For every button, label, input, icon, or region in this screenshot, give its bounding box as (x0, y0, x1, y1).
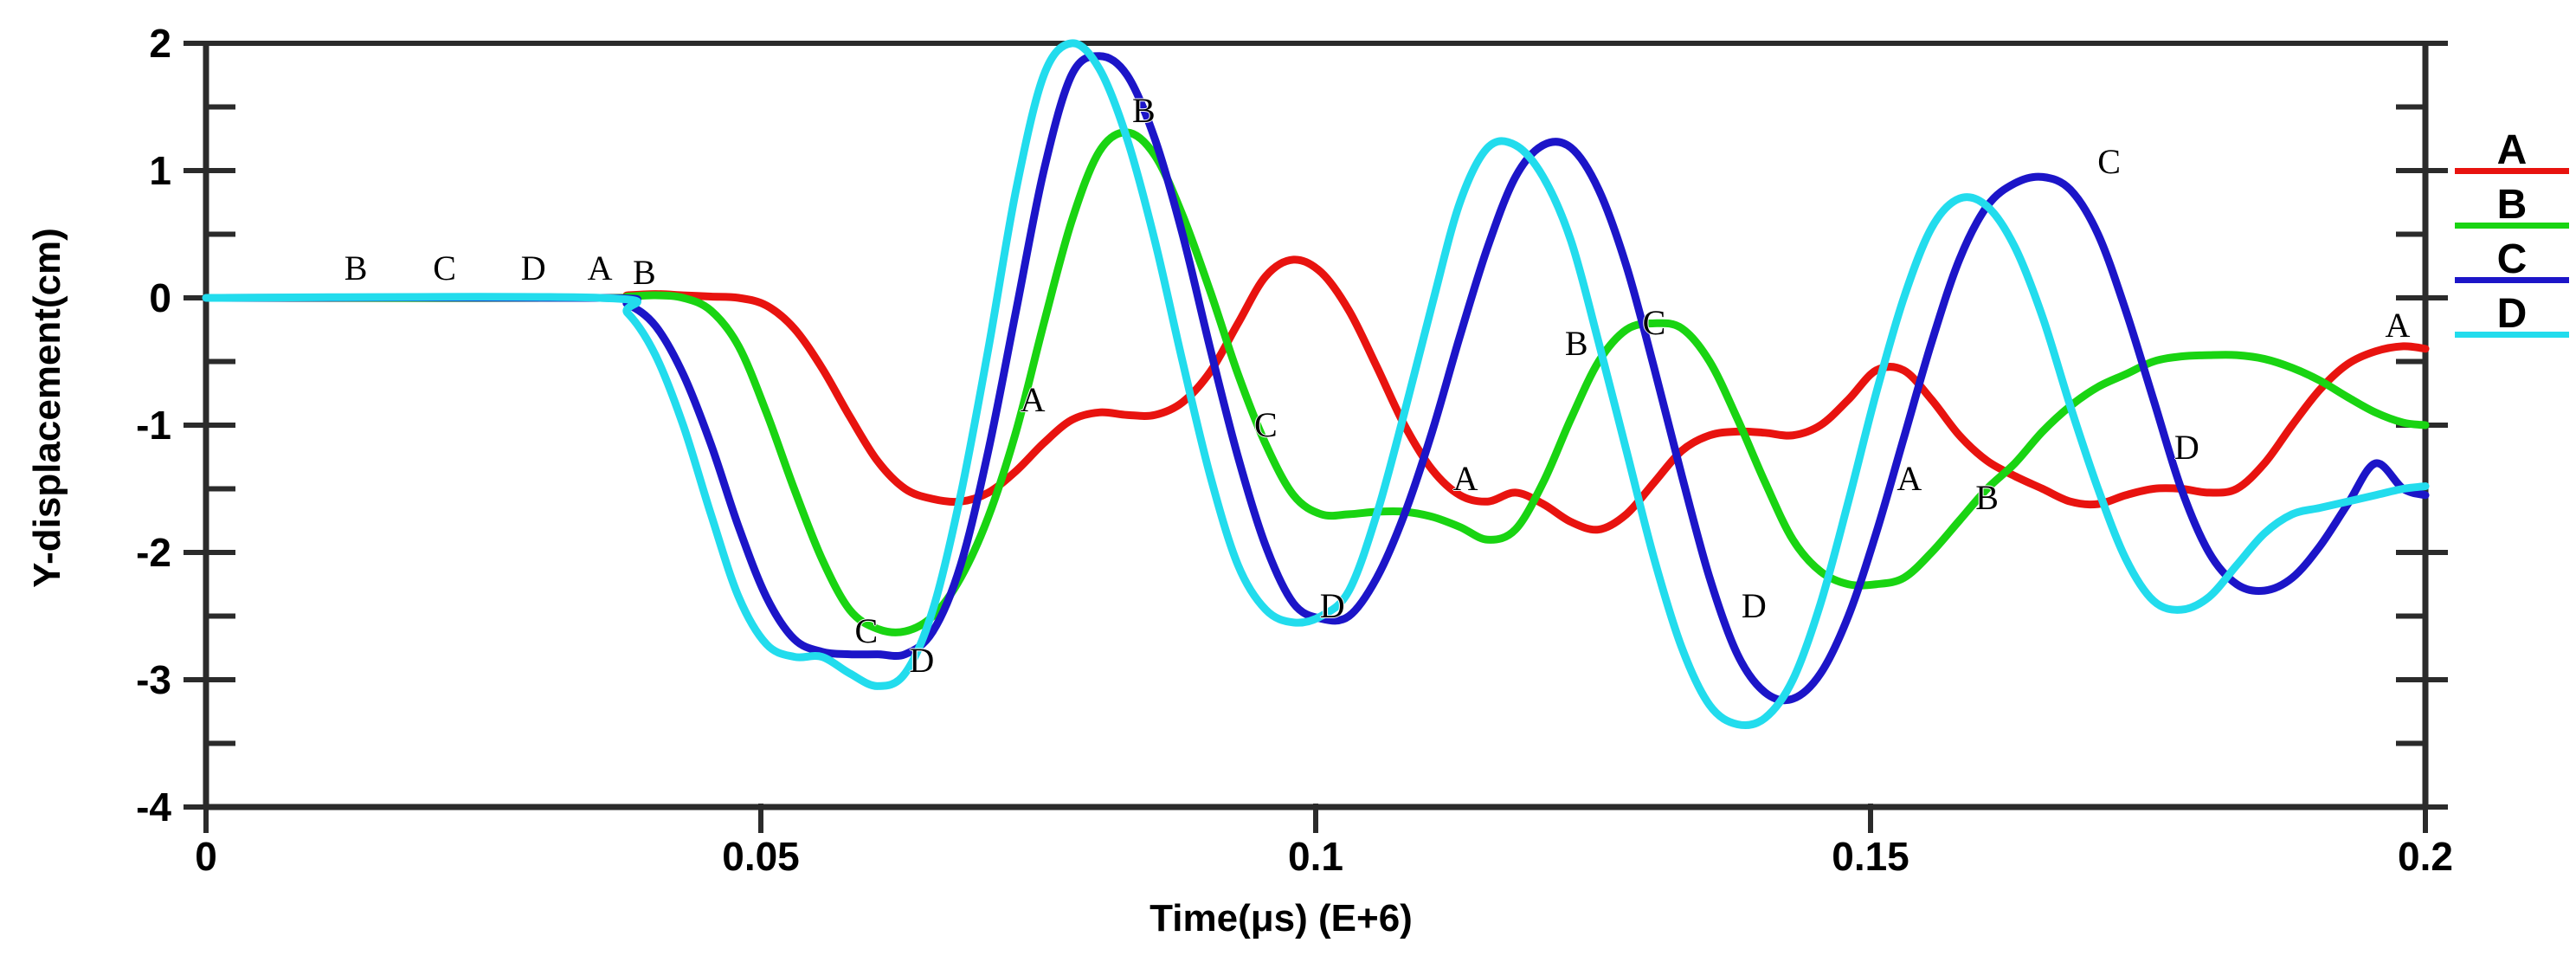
curve-label-C: C (1643, 306, 1666, 340)
curve-label-D: D (1742, 589, 1767, 623)
legend-item-D[interactable]: D (2455, 294, 2576, 348)
curve-label-D: D (909, 643, 934, 678)
x-axis-title: Time(μs) (E+6) (978, 897, 1584, 940)
curve-label-A: A (588, 251, 613, 286)
y-axis-title: Y-displacement(cm) (26, 183, 69, 633)
chart-legend: ABCD (2455, 130, 2576, 348)
y-tick-label: -1 (76, 402, 171, 449)
legend-label-D: D (2455, 294, 2569, 335)
x-tick-label: 0.15 (1775, 833, 1966, 880)
y-tick-label: -3 (76, 656, 171, 703)
x-tick-label: 0.05 (666, 833, 856, 880)
y-tick-label: 0 (76, 274, 171, 321)
curve-label-C: C (433, 251, 456, 286)
x-tick-label: 0 (111, 833, 301, 880)
y-tick-label: -4 (76, 784, 171, 830)
curve-label-A: A (2385, 308, 2410, 343)
legend-label-B: B (2455, 184, 2569, 226)
plot-canvas (0, 0, 2576, 975)
curve-label-A: A (1021, 383, 1046, 417)
x-tick-label: 0.1 (1220, 833, 1411, 880)
curve-label-A: A (1897, 462, 1922, 496)
curve-label-B: B (345, 251, 368, 286)
y-tick-label: 1 (76, 147, 171, 194)
curve-label-B: B (1132, 94, 1156, 128)
legend-label-A: A (2455, 130, 2569, 171)
curve-label-B: B (633, 255, 656, 290)
x-tick-label: 0.2 (2330, 833, 2521, 880)
curve-label-D: D (521, 251, 546, 286)
curve-label-A: A (1453, 462, 1478, 496)
series-line-B (206, 132, 2425, 633)
curve-label-C: C (2097, 145, 2121, 179)
series-layer (206, 43, 2425, 726)
series-line-C (206, 56, 2425, 701)
curve-label-B: B (1975, 481, 1999, 515)
chart-figure: Y-displacement(cm) Time(μs) (E+6) 210-1-… (0, 0, 2576, 975)
curve-label-C: C (854, 614, 878, 649)
y-tick-label: -2 (76, 529, 171, 576)
legend-item-C[interactable]: C (2455, 239, 2576, 294)
legend-label-C: C (2455, 239, 2569, 281)
legend-item-A[interactable]: A (2455, 130, 2576, 184)
curve-label-D: D (2174, 430, 2199, 465)
legend-item-B[interactable]: B (2455, 184, 2576, 239)
series-line-D (206, 43, 2425, 726)
curve-label-B: B (1565, 326, 1588, 361)
curve-label-D: D (1320, 589, 1345, 623)
y-tick-label: 2 (76, 20, 171, 67)
curve-label-C: C (1254, 408, 1278, 442)
